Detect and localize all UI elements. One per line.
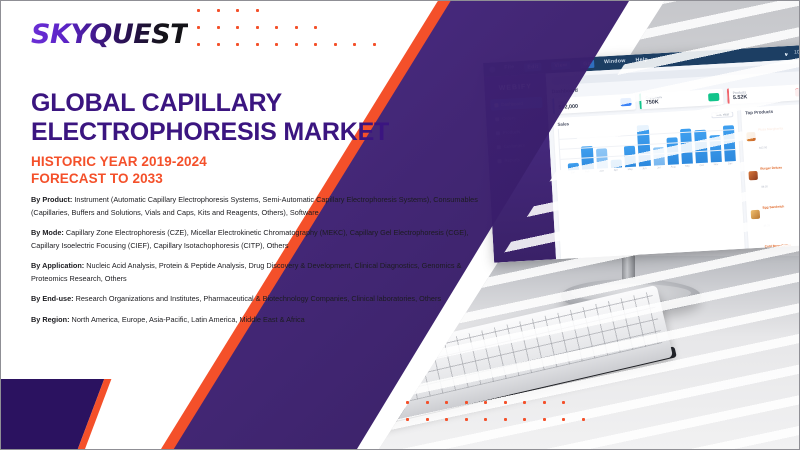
sidebar-item-label: Dashboard xyxy=(501,101,523,107)
dot-row xyxy=(197,9,376,12)
dot xyxy=(256,43,259,46)
dot xyxy=(504,401,507,404)
dot xyxy=(504,418,507,421)
dot xyxy=(217,26,220,29)
sidebar-item-label: Orders xyxy=(502,115,516,121)
poster-canvas: File Edit View Go Window Help 100% WEBIF… xyxy=(0,0,800,450)
segment-line: By End-use: Research Organizations and I… xyxy=(31,293,479,306)
forecast-line: FORECAST TO 2033 xyxy=(31,170,431,187)
menu-item-go[interactable]: Go xyxy=(580,60,594,69)
dot xyxy=(562,401,565,404)
sidebar-item-label: Products xyxy=(503,129,521,135)
dot xyxy=(314,26,317,29)
dot xyxy=(197,9,200,12)
dot xyxy=(484,418,487,421)
menu-item-file[interactable]: File xyxy=(504,64,515,73)
segment-label: By Product: xyxy=(31,195,72,204)
dot xyxy=(373,43,376,46)
apple-menu-icon xyxy=(489,66,495,72)
segment-label: By End-use: xyxy=(31,294,74,303)
segment-line: By Region: North America, Europe, Asia-P… xyxy=(31,314,479,327)
dot xyxy=(236,9,239,12)
dot-pattern-top xyxy=(197,9,376,60)
dot-pattern-bottom xyxy=(406,401,585,435)
dot xyxy=(275,43,278,46)
segment-line: By Application: Nucleic Acid Analysis, P… xyxy=(31,260,479,285)
grid-icon xyxy=(494,103,498,107)
dot xyxy=(217,9,220,12)
dot xyxy=(426,418,429,421)
dot xyxy=(426,401,429,404)
dot xyxy=(236,43,239,46)
dot xyxy=(353,43,356,46)
sidebar-item-label: Reports xyxy=(504,157,520,163)
dot-row xyxy=(197,43,376,46)
segment-label: By Application: xyxy=(31,261,84,270)
box-icon xyxy=(496,131,500,135)
dot xyxy=(465,418,468,421)
segment-line: By Product: Instrument (Automatic Capill… xyxy=(31,194,479,219)
sidebar-item-products[interactable]: Products xyxy=(492,125,545,139)
dot xyxy=(484,401,487,404)
dot xyxy=(406,401,409,404)
dot xyxy=(582,418,585,421)
dot xyxy=(197,43,200,46)
dot xyxy=(236,26,239,29)
cart-icon xyxy=(495,117,499,121)
dot xyxy=(465,401,468,404)
stat-value: $52,000 xyxy=(558,104,578,111)
sidebar-item-label: Customers xyxy=(504,143,525,149)
dot-row xyxy=(197,26,376,29)
historic-year-line: HISTORIC YEAR 2019-2024 xyxy=(31,153,431,170)
dot xyxy=(295,43,298,46)
sidebar-item-customers[interactable]: Customers xyxy=(492,139,545,153)
dot xyxy=(256,9,259,12)
dot xyxy=(334,43,337,46)
dot xyxy=(562,418,565,421)
dot xyxy=(197,26,200,29)
sidebar-item-reports[interactable]: Reports xyxy=(493,153,546,167)
report-period: HISTORIC YEAR 2019-2024 FORECAST TO 2033 xyxy=(31,153,431,188)
page-title: GLOBAL CAPILLARY ELECTROPHORESIS MARKET xyxy=(31,89,431,147)
sidebar-item-orders[interactable]: Orders xyxy=(491,111,544,125)
dot xyxy=(406,418,409,421)
segmentation-list: By Product: Instrument (Automatic Capill… xyxy=(31,194,479,334)
dot xyxy=(523,401,526,404)
dot xyxy=(217,43,220,46)
dot xyxy=(445,401,448,404)
sidebar-item-dashboard[interactable]: Dashboard xyxy=(490,97,543,111)
dot xyxy=(523,418,526,421)
dot xyxy=(543,418,546,421)
chart-icon xyxy=(497,159,501,163)
menu-item-window[interactable]: Window xyxy=(604,58,626,67)
skyquest-logo[interactable]: SKYQUEST xyxy=(31,19,188,50)
menu-item-edit[interactable]: Edit xyxy=(524,63,541,72)
dot-row xyxy=(406,401,585,404)
dot xyxy=(256,26,259,29)
segment-label: By Mode: xyxy=(31,228,64,237)
menu-item-view[interactable]: View xyxy=(551,61,570,70)
users-icon xyxy=(497,145,501,149)
dot xyxy=(445,418,448,421)
segment-line: By Mode: Capillary Zone Electrophoresis … xyxy=(31,227,479,252)
dot xyxy=(314,43,317,46)
dot xyxy=(543,401,546,404)
dot xyxy=(275,26,278,29)
dot-row xyxy=(406,418,585,421)
segment-label: By Region: xyxy=(31,315,70,324)
dot xyxy=(295,26,298,29)
chart-title: Sales xyxy=(557,121,569,127)
sidebar-logo: WEBIFY xyxy=(489,83,541,93)
